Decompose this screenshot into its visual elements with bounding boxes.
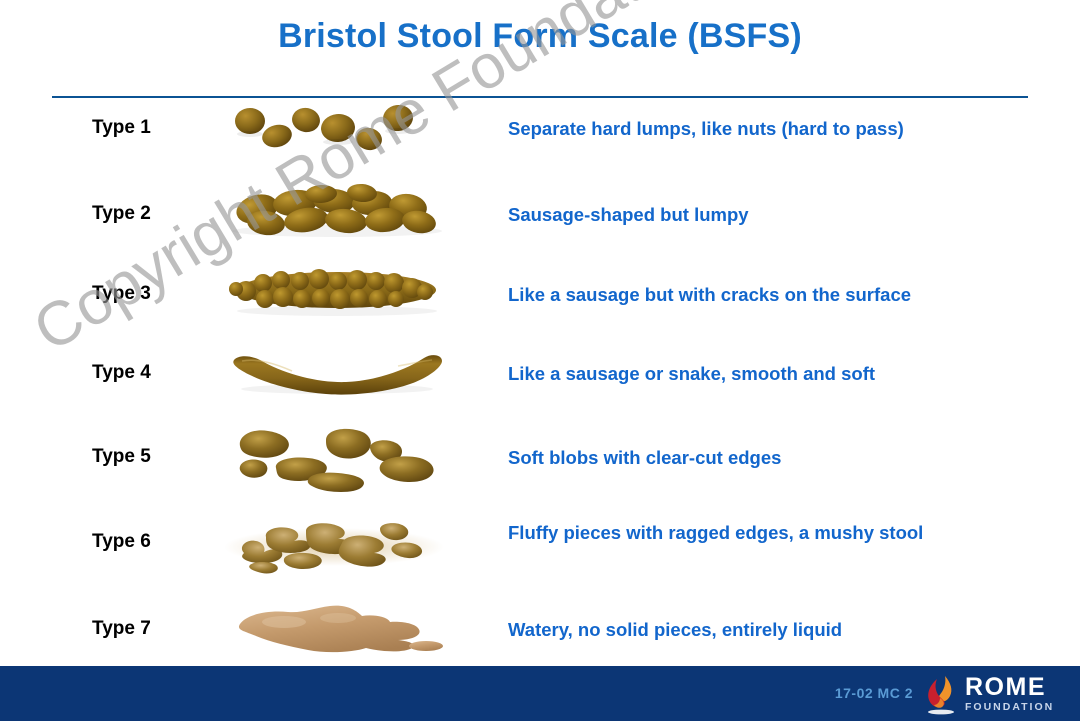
type-description-7: Watery, no solid pieces, entirely liquid	[508, 618, 1048, 642]
list-item: Type 5	[0, 418, 1080, 503]
type-description-4: Like a sausage or snake, smooth and soft	[508, 362, 1048, 386]
list-item: Type 4 Like a sausage or snake, smooth a…	[0, 338, 1080, 418]
logo-wordmark: ROME FOUNDATION	[965, 675, 1065, 713]
type-label-7: Type 7	[92, 618, 222, 640]
stool-art-type-2	[222, 179, 452, 259]
type-label-4: Type 4	[92, 362, 222, 384]
type-description-2: Sausage-shaped but lumpy	[508, 203, 1048, 227]
stool-art-type-5	[222, 418, 452, 498]
list-item: Type 1 Separ	[0, 100, 1080, 180]
logo-name: ROME	[965, 675, 1065, 700]
list-item: Type 7 Watery, no solid pieces, entirely…	[0, 590, 1080, 670]
type-description-1: Separate hard lumps, like nuts (hard to …	[508, 117, 1048, 141]
stool-art-type-7	[222, 590, 452, 670]
list-item: Type 3	[0, 259, 1080, 339]
footer-code: 17-02 MC 2	[835, 685, 913, 701]
flame-icon	[921, 674, 961, 716]
stool-art-type-4	[222, 338, 452, 418]
list-item: Type 6	[0, 503, 1080, 588]
type-label-5: Type 5	[92, 446, 222, 468]
type-label-3: Type 3	[92, 283, 222, 305]
type-description-5: Soft blobs with clear-cut edges	[508, 446, 1048, 470]
stool-art-type-6	[222, 503, 452, 583]
type-label-2: Type 2	[92, 203, 222, 225]
list-item: Type 2	[0, 179, 1080, 259]
page-title: Bristol Stool Form Scale (BSFS)	[0, 17, 1080, 56]
title-divider	[52, 96, 1028, 98]
type-description-6: Fluffy pieces with ragged edges, a mushy…	[508, 521, 1048, 545]
stool-art-type-3	[222, 259, 452, 339]
type-label-6: Type 6	[92, 531, 222, 553]
type-label-1: Type 1	[92, 117, 222, 139]
rome-foundation-logo: ROME FOUNDATION	[921, 673, 1066, 717]
logo-subtitle: FOUNDATION	[965, 701, 1065, 713]
type-description-3: Like a sausage but with cracks on the su…	[508, 283, 1048, 307]
footer-bar: 17-02 MC 2 ROME FOUNDATION	[0, 666, 1080, 721]
stool-art-type-1	[222, 100, 452, 180]
